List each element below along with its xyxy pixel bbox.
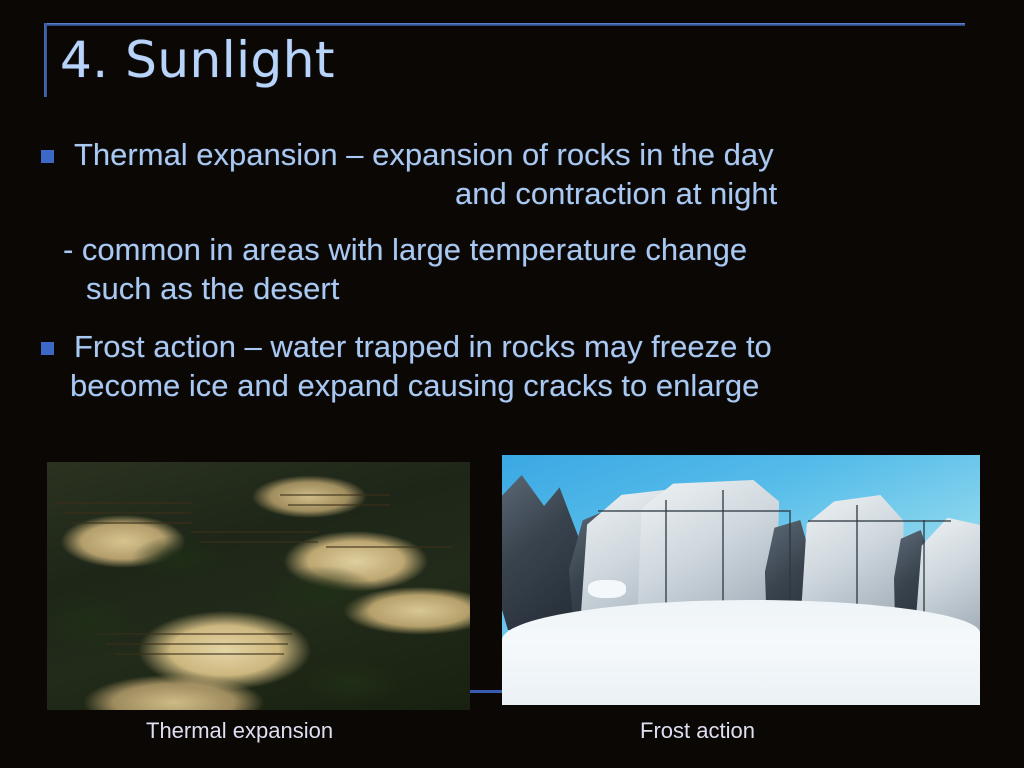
rock-stratum	[55, 502, 190, 504]
body-content: Thermal expansion – expansion of rocks i…	[0, 136, 1024, 404]
rock-stratum	[115, 653, 284, 655]
square-bullet-icon	[41, 342, 54, 355]
rock-stratum	[288, 504, 390, 506]
sub-bullet-line-continuation: such as the desert	[0, 270, 1024, 307]
page-title: 4. Sunlight	[60, 31, 335, 89]
vegetation-patch	[301, 660, 403, 705]
vegetation-patch	[47, 591, 132, 651]
snow-patch	[588, 580, 626, 598]
bullet-line-continuation: and contraction at night	[0, 175, 1024, 212]
bullet-line-text: - common in areas with large temperature…	[0, 231, 1024, 268]
bullet-line-text: Thermal expansion – expansion of rocks i…	[0, 136, 1024, 173]
bullet-line-continuation: become ice and expand causing cracks to …	[0, 367, 1024, 404]
dark-rock-spire	[502, 475, 578, 630]
vegetation-patch	[132, 536, 225, 581]
bullet-line-text: such as the desert	[0, 270, 1024, 307]
bullet-item-frost-action: Frost action – water trapped in rocks ma…	[0, 328, 1024, 365]
rock-stratum	[199, 541, 317, 543]
bullet-line-text: and contraction at night	[0, 175, 1024, 212]
square-bullet-icon	[41, 150, 54, 163]
frost-action-photo	[502, 455, 980, 705]
rock-stratum	[106, 643, 288, 645]
rock-stratum	[326, 546, 453, 548]
title-rule-vertical	[44, 23, 47, 97]
bullet-line-text: Frost action – water trapped in rocks ma…	[0, 328, 1024, 365]
rock-stratum	[72, 522, 190, 524]
presentation-slide: 4. Sunlight Thermal expansion – expansio…	[0, 0, 1024, 768]
snowfield	[502, 600, 980, 705]
vegetation-patch	[267, 566, 377, 621]
thermal-expansion-photo	[47, 462, 470, 710]
rock-crack	[598, 510, 789, 512]
caption-thermal-expansion: Thermal expansion	[146, 718, 333, 744]
bullet-item-thermal-expansion: Thermal expansion – expansion of rocks i…	[0, 136, 1024, 173]
bullet-line-text: become ice and expand causing cracks to …	[0, 367, 1024, 404]
caption-frost-action: Frost action	[640, 718, 755, 744]
rock-stratum	[280, 494, 390, 496]
rock-stratum	[64, 512, 191, 514]
title-rule-horizontal	[44, 23, 965, 26]
rock-crack	[808, 520, 951, 522]
rock-stratum	[191, 531, 318, 533]
sub-bullet-item-desert: - common in areas with large temperature…	[0, 231, 1024, 268]
